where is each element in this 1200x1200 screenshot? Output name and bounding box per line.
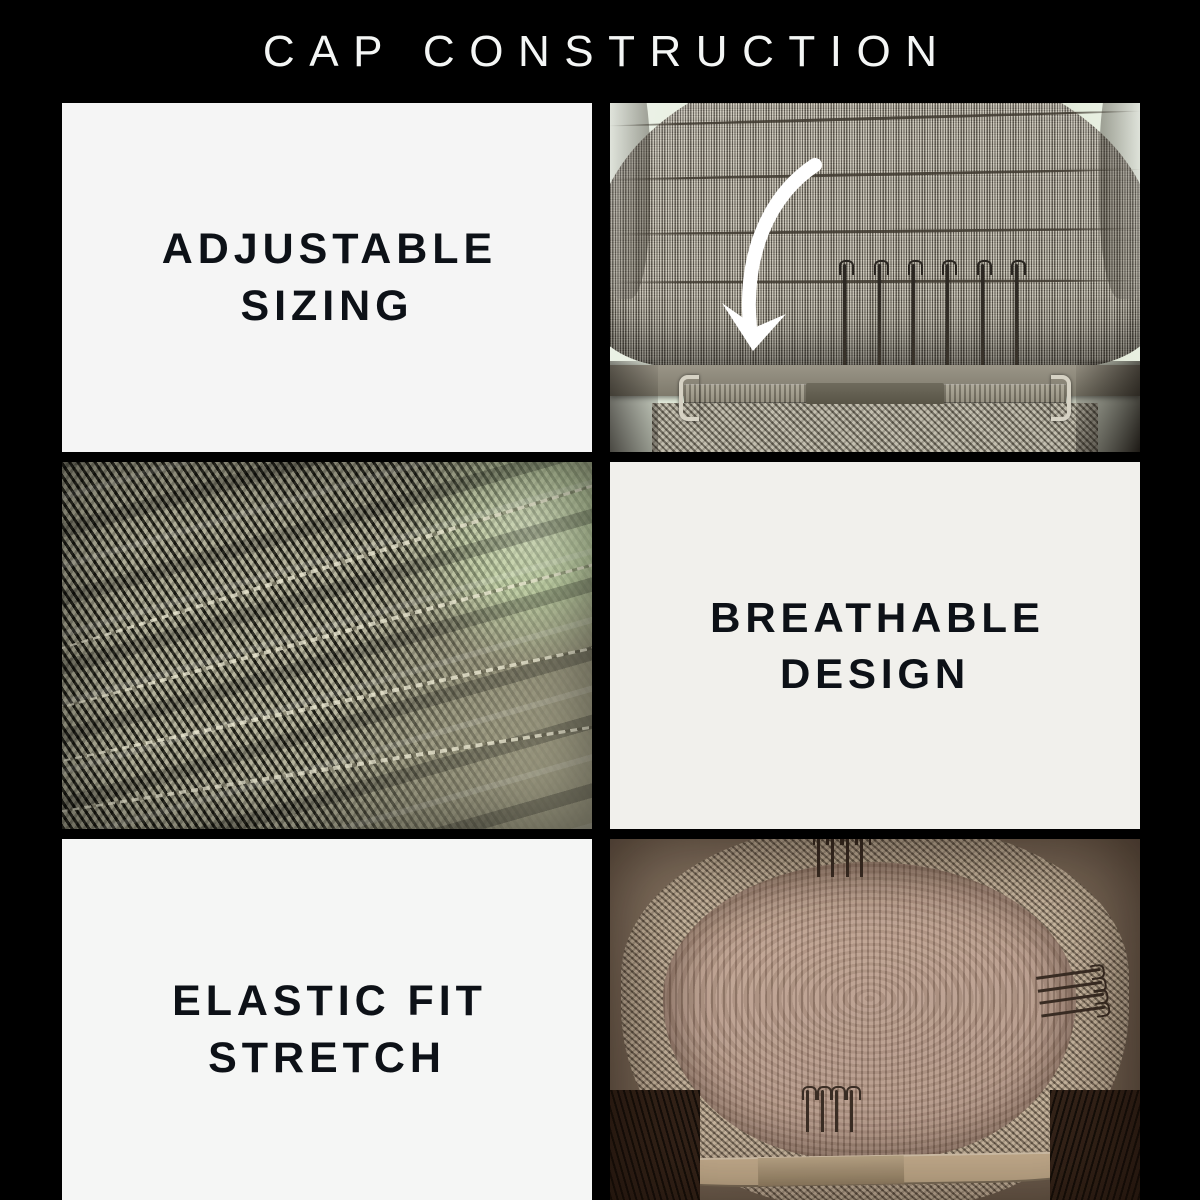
tile-label-line2: DESIGN	[780, 650, 970, 697]
photo-vignette	[62, 462, 592, 829]
photo-cap-back-adjustable-strap	[610, 103, 1140, 452]
page-title: CAP CONSTRUCTION	[248, 30, 951, 74]
photo-vignette	[610, 839, 1140, 1200]
tile-label-line2: SIZING	[240, 282, 413, 330]
tile-label-adjustable-sizing: ADJUSTABLE SIZING	[157, 221, 497, 335]
tile-label-line1: ADJUSTABLE	[162, 225, 497, 273]
tile-label-line1: BREATHABLE	[710, 594, 1045, 641]
tile-label-line1: ELASTIC FIT	[172, 977, 487, 1025]
tile-label-elastic-fit-stretch: ELASTIC FIT STRETCH	[167, 973, 487, 1087]
photo-breathable-mesh-closeup	[62, 462, 592, 829]
feature-tile-elastic-fit-stretch: ELASTIC FIT STRETCH	[62, 839, 592, 1200]
feature-grid: ADJUSTABLE SIZING	[62, 103, 1140, 1200]
tile-label-breathable-design: BREATHABLE DESIGN	[705, 590, 1044, 701]
feature-tile-breathable-design: BREATHABLE DESIGN	[610, 462, 1140, 829]
tile-label-line2: STRETCH	[208, 1034, 446, 1082]
photo-cap-interior	[610, 839, 1140, 1200]
infographic-root: CAP CONSTRUCTION ADJUSTABLE SIZING	[0, 0, 1200, 1200]
page-title-bar: CAP CONSTRUCTION	[0, 0, 1200, 103]
curved-down-arrow-icon	[610, 103, 1140, 452]
feature-tile-adjustable-sizing: ADJUSTABLE SIZING	[62, 103, 592, 452]
